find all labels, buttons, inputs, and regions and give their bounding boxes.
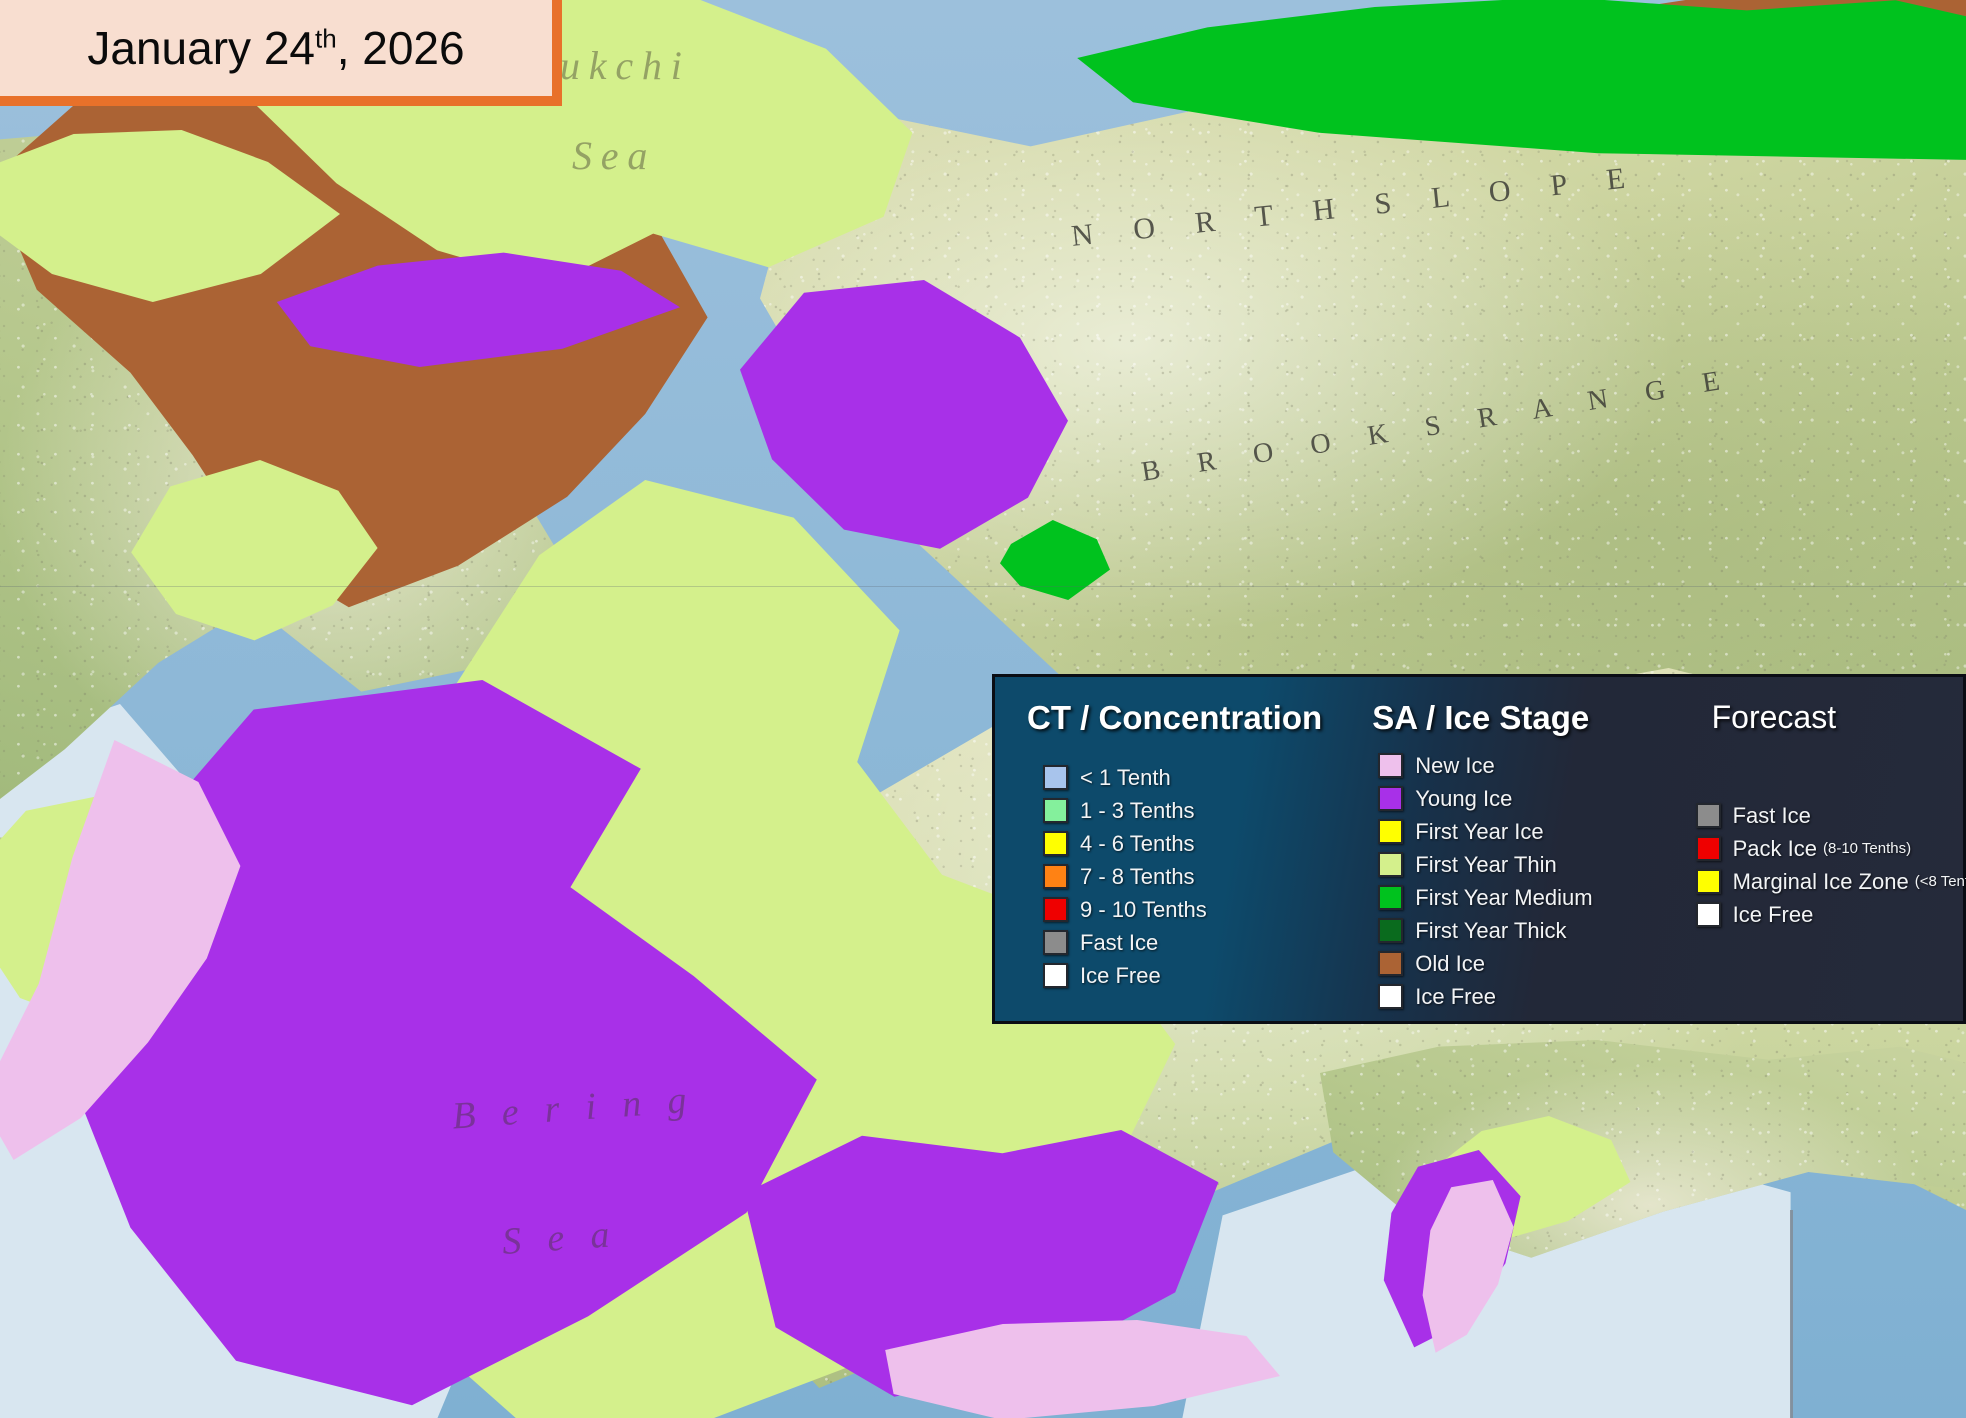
swatch-first-year-medium xyxy=(1378,885,1403,910)
legend-item-label: First Year Medium xyxy=(1415,885,1592,911)
legend-item[interactable]: Pack Ice (8-10 Tenths) xyxy=(1696,832,1966,865)
swatch-9-10-tenths xyxy=(1043,897,1068,922)
swatch-ice-free xyxy=(1043,963,1068,988)
legend-items-ice-stage: New Ice Young Ice First Year Ice First Y… xyxy=(1378,749,1592,1013)
legend-item[interactable]: Marginal Ice Zone (<8 Tenths) xyxy=(1696,865,1966,898)
swatch-young-ice xyxy=(1378,786,1403,811)
legend-item-label: < 1 Tenth xyxy=(1080,765,1171,791)
legend-item[interactable]: 4 - 6 Tenths xyxy=(1043,827,1207,860)
legend-item[interactable]: Old Ice xyxy=(1378,947,1592,980)
legend-item-label: 9 - 10 Tenths xyxy=(1080,897,1207,923)
legend-item[interactable]: First Year Thick xyxy=(1378,914,1592,947)
legend-item-label: New Ice xyxy=(1415,753,1494,779)
legend-items-forecast: Fast Ice Pack Ice (8-10 Tenths) Marginal… xyxy=(1696,799,1966,931)
swatch-fast-ice xyxy=(1696,803,1721,828)
legend-item-label: Ice Free xyxy=(1080,963,1161,989)
legend-item-label: 1 - 3 Tenths xyxy=(1080,798,1195,824)
legend-item[interactable]: Fast Ice xyxy=(1043,926,1207,959)
legend-item-label: 4 - 6 Tenths xyxy=(1080,831,1195,857)
swatch-ice-free xyxy=(1378,984,1403,1009)
legend-item[interactable]: Ice Free xyxy=(1696,898,1966,931)
legend-item-label: First Year Ice xyxy=(1415,819,1543,845)
swatch-4-6-tenths xyxy=(1043,831,1068,856)
date-text: January 24th, 2026 xyxy=(87,21,464,75)
legend-item[interactable]: Ice Free xyxy=(1378,980,1592,1013)
legend-item-label: Ice Free xyxy=(1415,984,1496,1010)
swatch-ice-free xyxy=(1696,902,1721,927)
legend-item-label: Old Ice xyxy=(1415,951,1485,977)
legend-item[interactable]: New Ice xyxy=(1378,749,1592,782)
sea-ice-map-screenshot: ukchi Sea B e r i n g S e a N O R T H S … xyxy=(0,0,1966,1418)
legend-item[interactable]: Fast Ice xyxy=(1696,799,1966,832)
date-year: , 2026 xyxy=(337,22,465,74)
legend-item-label: Fast Ice xyxy=(1080,930,1158,956)
legend-item[interactable]: 1 - 3 Tenths xyxy=(1043,794,1207,827)
swatch-pack-ice xyxy=(1696,836,1721,861)
legend-item[interactable]: First Year Ice xyxy=(1378,815,1592,848)
legend-item[interactable]: 7 - 8 Tenths xyxy=(1043,860,1207,893)
legend-items-concentration: < 1 Tenth 1 - 3 Tenths 4 - 6 Tenths 7 - … xyxy=(1043,761,1207,992)
legend-item-label: Marginal Ice Zone xyxy=(1733,869,1909,895)
legend-item-label: Young Ice xyxy=(1415,786,1512,812)
swatch-new-ice xyxy=(1378,753,1403,778)
legend-item-label: Pack Ice xyxy=(1733,836,1817,862)
date-ordinal-suffix: th xyxy=(315,24,337,54)
date-badge: January 24th, 2026 xyxy=(0,0,562,106)
swatch-first-year-thick xyxy=(1378,918,1403,943)
legend-item-label: First Year Thick xyxy=(1415,918,1566,944)
legend-column-concentration: CT / Concentration < 1 Tenth 1 - 3 Tenth… xyxy=(995,677,1354,1021)
legend-item-label: Fast Ice xyxy=(1733,803,1811,829)
legend-item-label: 7 - 8 Tenths xyxy=(1080,864,1195,890)
legend-item[interactable]: Young Ice xyxy=(1378,782,1592,815)
legend-column-forecast: Forecast Fast Ice Pack Ice (8-10 Tenths)… xyxy=(1664,677,1963,1021)
swatch-first-year-ice xyxy=(1378,819,1403,844)
legend-item[interactable]: First Year Thin xyxy=(1378,848,1592,881)
legend-panel: CT / Concentration < 1 Tenth 1 - 3 Tenth… xyxy=(992,674,1966,1024)
legend-item[interactable]: < 1 Tenth xyxy=(1043,761,1207,794)
legend-item-label: Ice Free xyxy=(1733,902,1814,928)
swatch-marginal-ice-zone xyxy=(1696,869,1721,894)
legend-item[interactable]: 9 - 10 Tenths xyxy=(1043,893,1207,926)
legend-item[interactable]: First Year Medium xyxy=(1378,881,1592,914)
swatch-old-ice xyxy=(1378,951,1403,976)
graticule-line xyxy=(0,586,1966,587)
legend-item[interactable]: Ice Free xyxy=(1043,959,1207,992)
swatch-7-8-tenths xyxy=(1043,864,1068,889)
swatch-fast-ice xyxy=(1043,930,1068,955)
legend-item-sublabel: (8-10 Tenths) xyxy=(1823,840,1911,857)
swatch-1-3-tenths xyxy=(1043,798,1068,823)
swatch-lt-1-tenth xyxy=(1043,765,1068,790)
legend-item-label: First Year Thin xyxy=(1415,852,1556,878)
gulf-boundary-line xyxy=(1790,1210,1793,1418)
swatch-first-year-thin xyxy=(1378,852,1403,877)
date-month-day: January 24 xyxy=(87,22,315,74)
legend-column-ice-stage: SA / Ice Stage New Ice Young Ice First Y… xyxy=(1354,677,1663,1021)
legend-title-ice-stage: SA / Ice Stage xyxy=(1372,699,1589,737)
legend-title-concentration: CT / Concentration xyxy=(1027,699,1322,737)
legend-item-sublabel: (<8 Tenths) xyxy=(1915,873,1966,890)
legend-title-forecast: Forecast xyxy=(1712,699,1836,736)
